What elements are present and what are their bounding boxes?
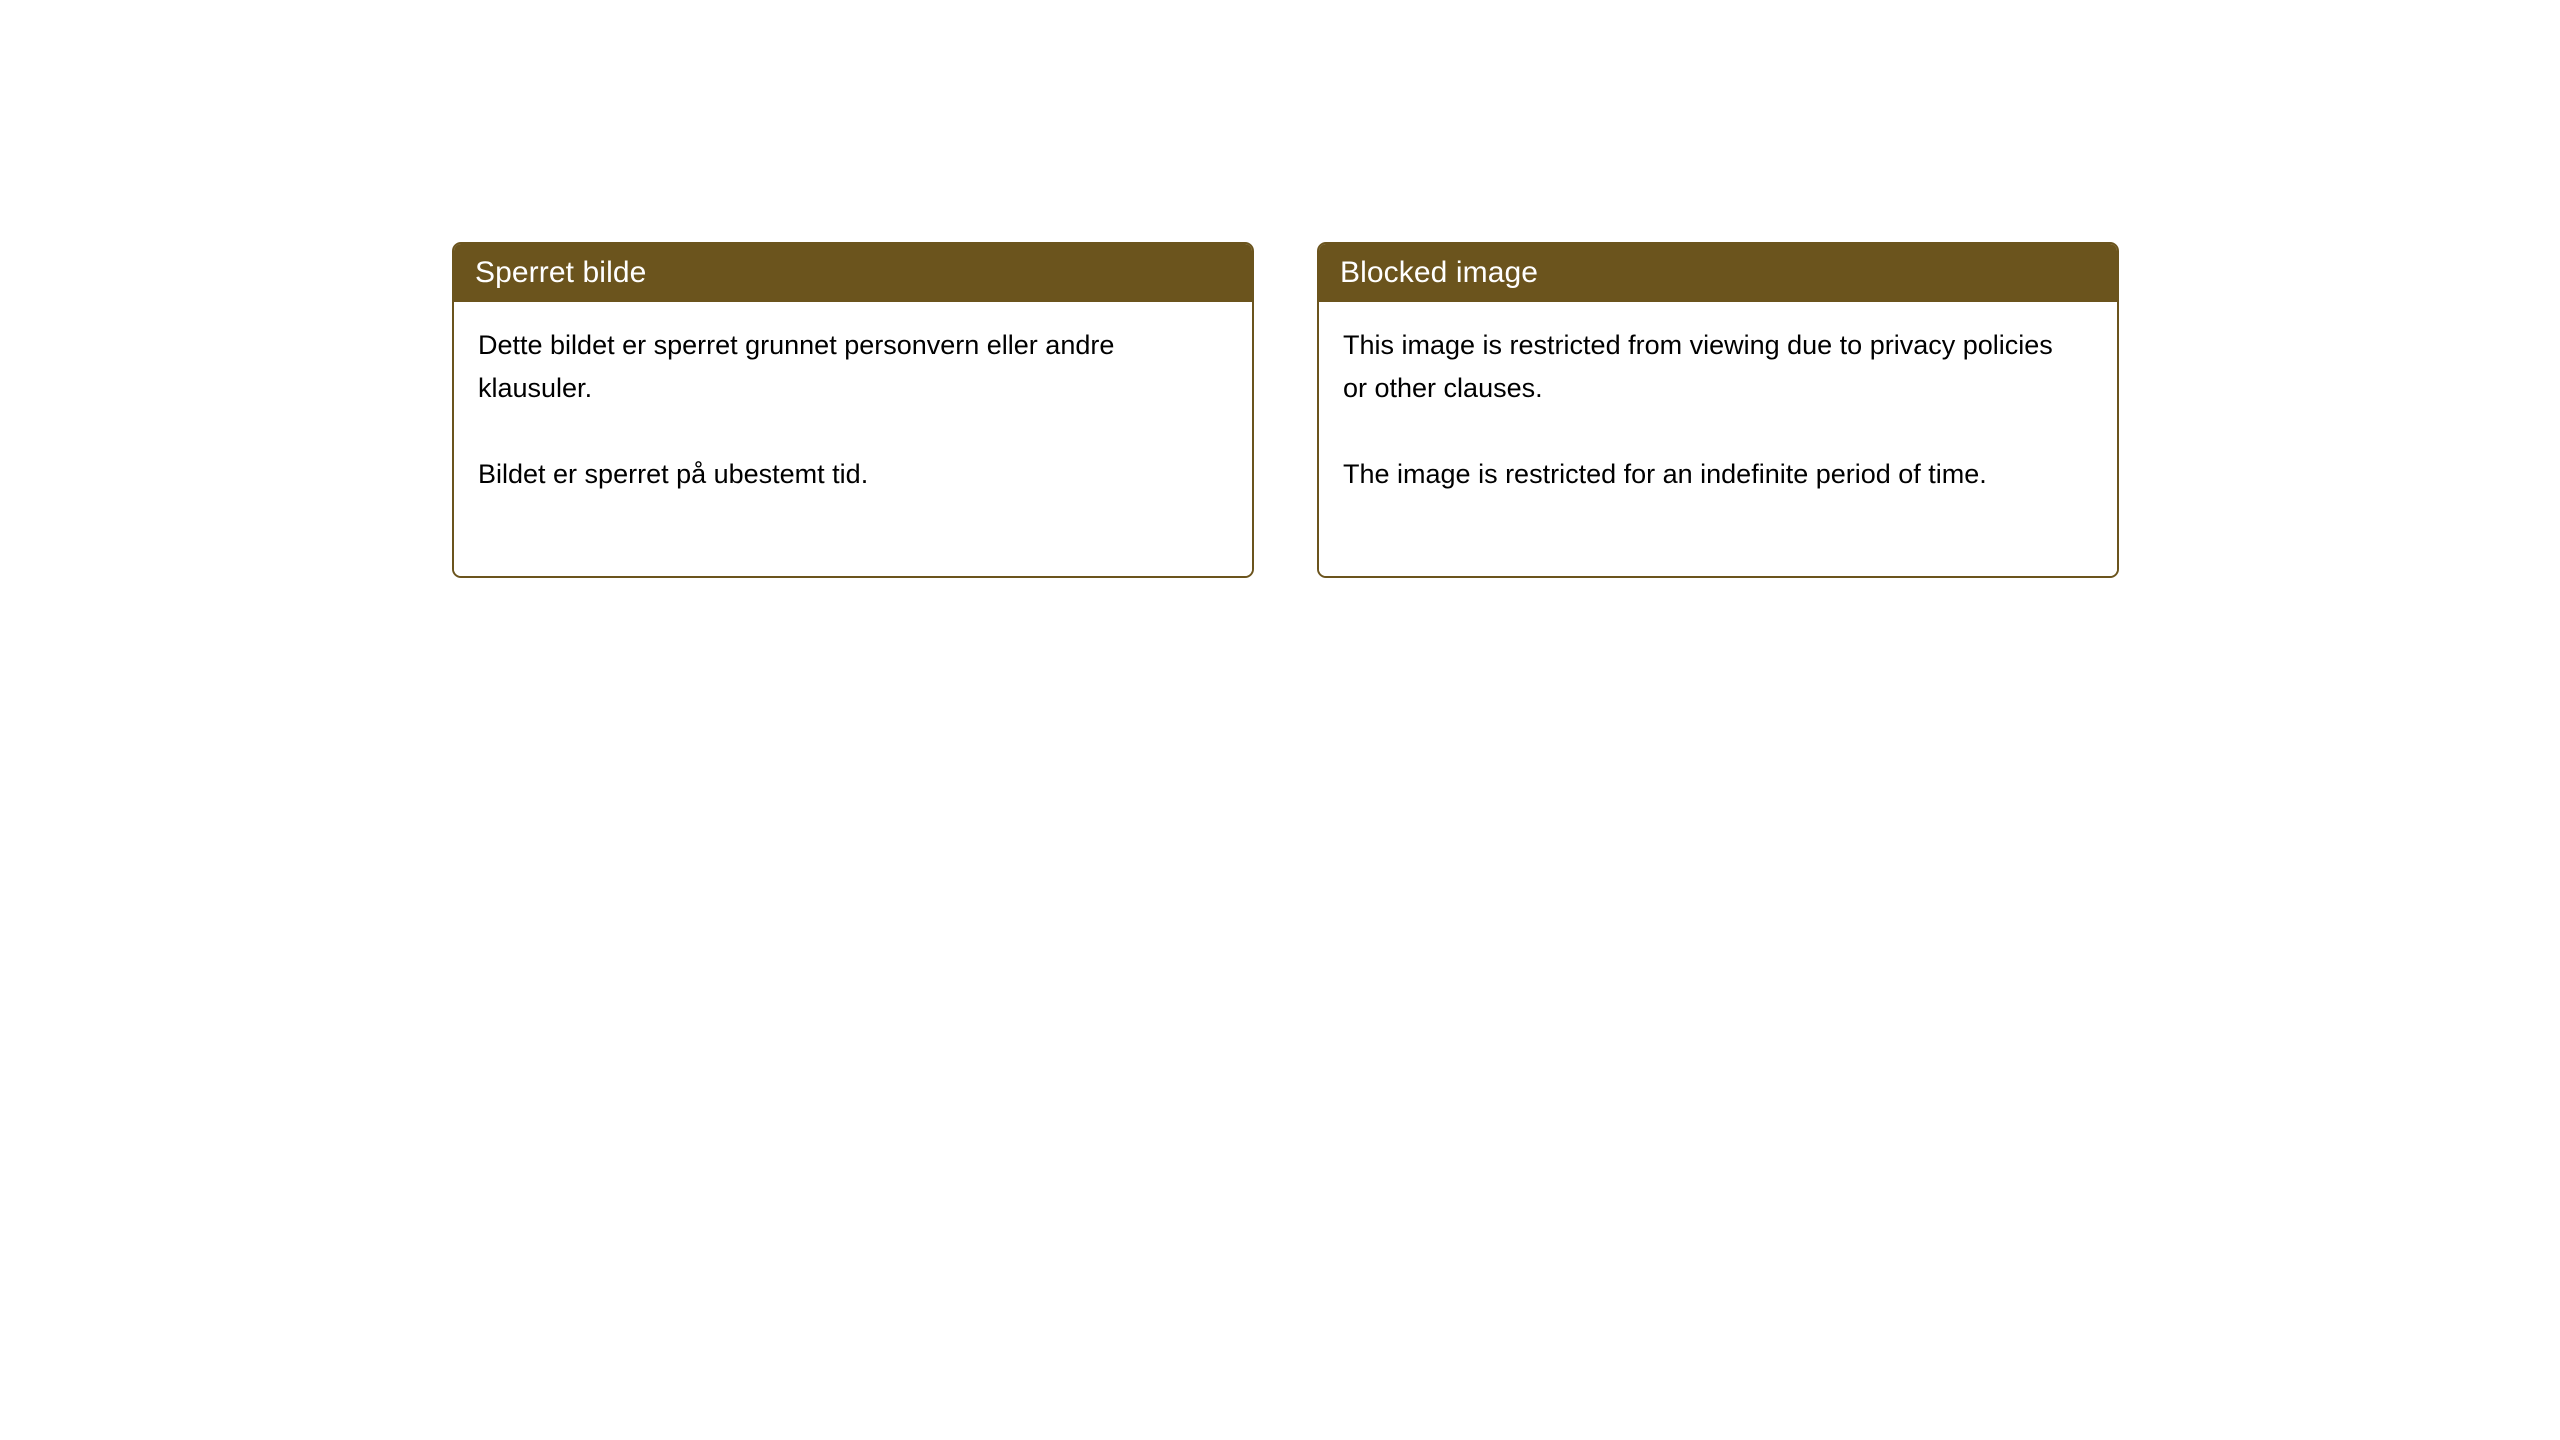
- blocked-image-notice-card-norwegian: Sperret bilde Dette bildet er sperret gr…: [452, 242, 1254, 578]
- card-paragraph-english-2: The image is restricted for an indefinit…: [1343, 453, 2083, 496]
- card-header-english: Blocked image: [1319, 244, 2117, 302]
- card-body-english: This image is restricted from viewing du…: [1319, 302, 2117, 576]
- blocked-image-notice-group: Sperret bilde Dette bildet er sperret gr…: [452, 242, 2119, 578]
- card-header-norwegian: Sperret bilde: [454, 244, 1252, 302]
- card-paragraph-english-1: This image is restricted from viewing du…: [1343, 324, 2083, 410]
- card-body-norwegian: Dette bildet er sperret grunnet personve…: [454, 302, 1252, 576]
- card-paragraph-norwegian-2: Bildet er sperret på ubestemt tid.: [478, 453, 1218, 496]
- card-title-english: Blocked image: [1340, 256, 1538, 290]
- card-title-norwegian: Sperret bilde: [475, 256, 646, 290]
- card-paragraph-norwegian-1: Dette bildet er sperret grunnet personve…: [478, 324, 1218, 410]
- blocked-image-notice-card-english: Blocked image This image is restricted f…: [1317, 242, 2119, 578]
